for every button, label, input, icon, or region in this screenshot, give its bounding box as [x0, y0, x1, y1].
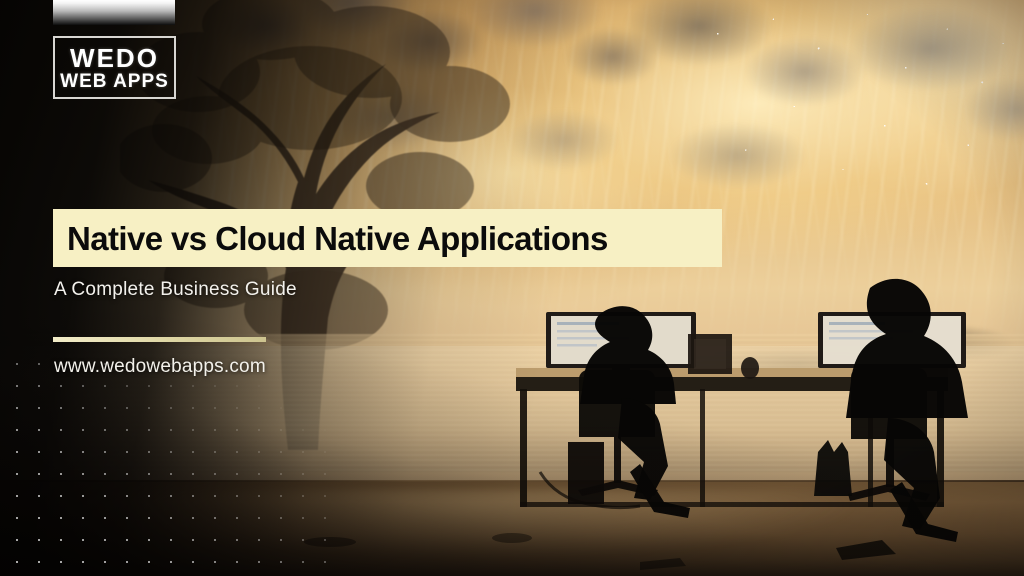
logo-line-1: WEDO [70, 45, 159, 71]
page-title: Native vs Cloud Native Applications [67, 222, 608, 255]
website-url[interactable]: www.wedowebapps.com [54, 357, 266, 378]
page-subtitle: A Complete Business Guide [54, 280, 297, 301]
article-hero-banner: WEDO WEB APPS Native vs Cloud Native App… [0, 0, 1024, 576]
logo-line-2: WEB APPS [60, 72, 169, 91]
wedo-web-apps-logo[interactable]: WEDO WEB APPS [53, 36, 176, 99]
dot-pattern-decoration [0, 346, 340, 576]
top-gradient-bar [53, 0, 175, 25]
title-banner: Native vs Cloud Native Applications [53, 209, 722, 267]
divider-rule [53, 337, 266, 342]
